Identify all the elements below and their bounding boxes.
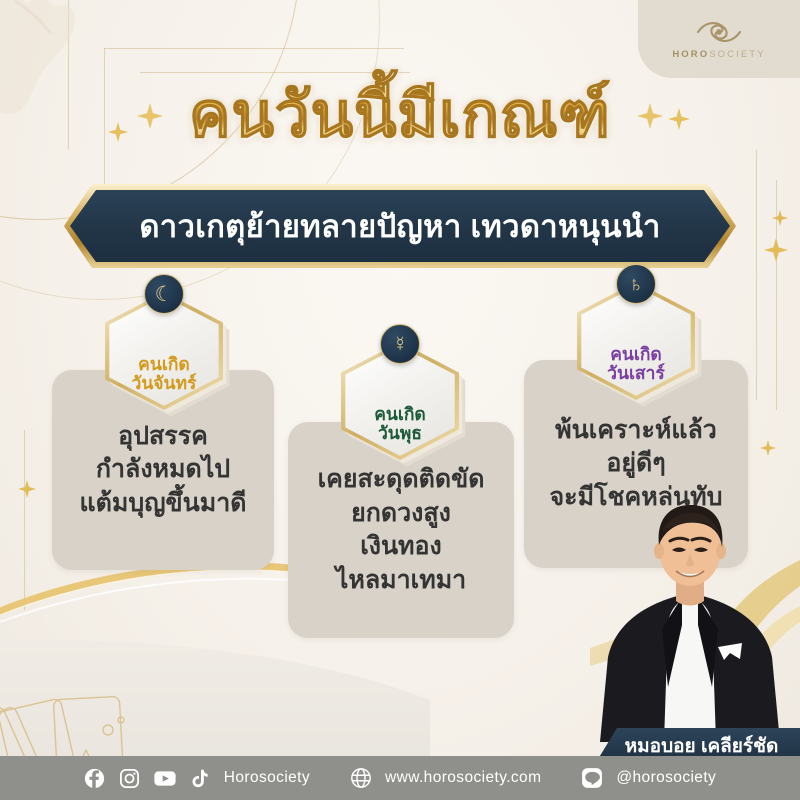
sparkle-icon xyxy=(772,210,788,226)
saturn-planet-icon: ♄ xyxy=(616,264,656,304)
badge-wednesday[interactable]: ☿ คนเกิด วันพุธ xyxy=(341,342,459,460)
badge-saturday[interactable]: ♄ คนเกิด วันเสาร์ xyxy=(577,282,695,400)
globe-icon[interactable] xyxy=(350,767,372,789)
badge-glyph: ☾ xyxy=(155,284,174,305)
social-footer: Horosociety www.horosociety.com @horosoc… xyxy=(0,756,800,800)
badge-saturday-label: คนเกิด วันเสาร์ xyxy=(607,345,665,384)
sparkle-icon xyxy=(18,480,36,498)
decor-line xyxy=(776,180,777,410)
badge-monday-label: คนเกิด วันจันทร์ xyxy=(132,355,197,394)
logo-light: SOCIETY xyxy=(709,49,765,60)
badge-line: วันเสาร์ xyxy=(607,364,665,384)
card-line: เคยสะดุดติดขัด xyxy=(318,463,485,497)
badge-line: คนเกิด xyxy=(374,405,426,425)
card-line: ไหลมาเทมา xyxy=(318,564,485,598)
decor-line xyxy=(24,430,25,610)
facebook-icon[interactable] xyxy=(84,767,106,789)
card-line: กำลังหมดไป xyxy=(80,453,247,487)
line-icon[interactable] xyxy=(581,767,603,789)
badge-line: คนเกิด xyxy=(607,345,665,365)
card-line: อุปสรรค xyxy=(80,420,247,454)
line-handle: @horosociety xyxy=(616,769,716,787)
sparkle-icon xyxy=(137,103,163,129)
sparkle-icon xyxy=(760,440,776,456)
card-line: แต้มบุญขึ้นมาดี xyxy=(80,487,247,521)
poster-canvas: HOROSOCIETY คนวันนี้มีเกณฑ์ ดาวเกตุย้ายท… xyxy=(0,0,800,800)
sparkle-icon xyxy=(637,103,663,129)
main-title-row: คนวันนี้มีเกณฑ์ xyxy=(0,84,800,147)
badge-line: วันจันทร์ xyxy=(132,374,197,394)
youtube-icon[interactable] xyxy=(154,767,176,789)
decor-line xyxy=(756,150,757,400)
card-line: เงินทอง xyxy=(318,530,485,564)
decor-line xyxy=(104,48,404,49)
social-handle: Horosociety xyxy=(224,769,310,787)
card-monday-text: อุปสรรค กำลังหมดไป แต้มบุญขึ้นมาดี xyxy=(70,420,257,521)
badge-monday[interactable]: ☾ คนเกิด วันจันทร์ xyxy=(105,292,223,410)
decor-line xyxy=(140,72,410,73)
card-wednesday-text: เคยสะดุดติดขัด ยกดวงสูง เงินทอง ไหลมาเทม… xyxy=(308,463,495,597)
badge-line: คนเกิด xyxy=(132,355,197,375)
instagram-icon[interactable] xyxy=(119,767,141,789)
page-title: คนวันนี้มีเกณฑ์ xyxy=(189,84,611,147)
website-url[interactable]: www.horosociety.com xyxy=(385,769,541,787)
card-line: อยู่ดีๆ xyxy=(550,447,723,481)
logo-wordmark: HOROSOCIETY xyxy=(672,49,765,60)
mercury-planet-icon: ☿ xyxy=(380,324,420,364)
badge-glyph: ☿ xyxy=(392,334,408,355)
tiktok-icon[interactable] xyxy=(189,767,211,789)
subtitle-banner: ดาวเกตุย้ายทลายปัญหา เทวดาหนุนนำ xyxy=(70,190,730,262)
badge-glyph: ♄ xyxy=(628,274,644,295)
subtitle-text: ดาวเกตุย้ายทลายปัญหา เทวดาหนุนนำ xyxy=(139,201,660,251)
card-line: ยกดวงสูง xyxy=(318,497,485,531)
badge-wednesday-label: คนเกิด วันพุธ xyxy=(374,405,426,444)
eye-spiral-icon xyxy=(695,19,743,45)
badge-line: วันพุธ xyxy=(374,424,426,444)
brand-logo[interactable]: HOROSOCIETY xyxy=(638,0,800,78)
presenter-portrait xyxy=(590,497,790,742)
moon-crescent-icon: ☾ xyxy=(144,274,184,314)
sparkle-icon xyxy=(764,238,788,262)
logo-bold: HORO xyxy=(672,49,709,60)
card-line: พ้นเคราะห์แล้ว xyxy=(550,414,723,448)
